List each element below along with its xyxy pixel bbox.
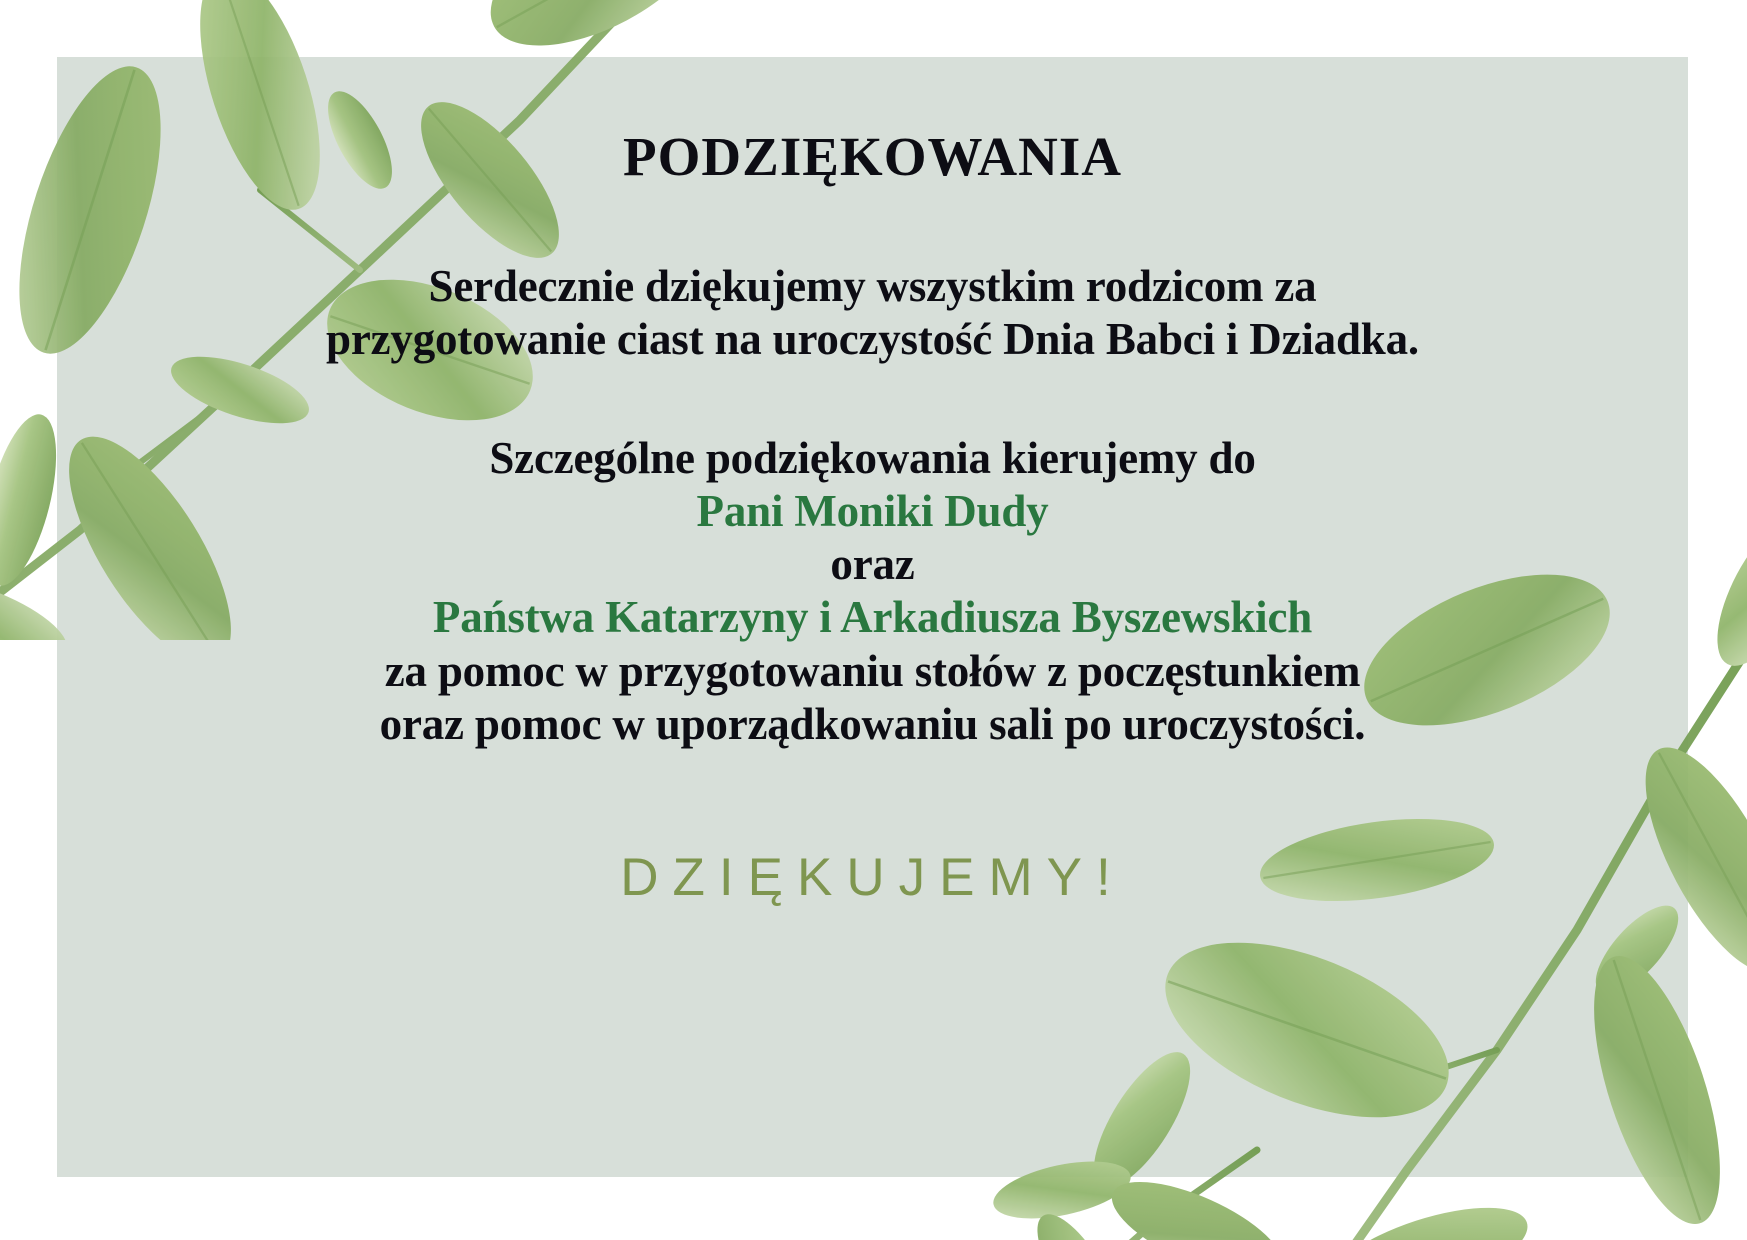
paragraph2-line-1: Szczególne podziękowania kierujemy do (57, 432, 1688, 485)
paragraph2-conjunction: oraz (57, 538, 1688, 591)
paragraph2-line-5: za pomoc w przygotowaniu stołów z poczęs… (57, 645, 1688, 698)
honoree-name-moniki-dudy: Pani Moniki Dudy (57, 485, 1688, 538)
page-title: PODZIĘKOWANIA (57, 57, 1688, 188)
paragraph1-line-1: Serdecznie dziękujemy wszystkim rodzicom… (57, 260, 1688, 313)
thank-you-card: PODZIĘKOWANIA Serdecznie dziękujemy wszy… (0, 0, 1747, 1240)
paragraph1-line-2: przygotowanie ciast na uroczystość Dnia … (57, 313, 1688, 366)
honoree-name-byszewscy: Państwa Katarzyny i Arkadiusza Byszewski… (57, 591, 1688, 644)
paragraph-special-thanks: Szczególne podziękowania kierujemy do Pa… (57, 366, 1688, 751)
card-content: PODZIĘKOWANIA Serdecznie dziękujemy wszy… (57, 57, 1688, 1177)
closing-thank-you: DZIĘKUJEMY! (57, 751, 1688, 908)
paragraph-thanks-parents: Serdecznie dziękujemy wszystkim rodzicom… (57, 188, 1688, 366)
paragraph2-line-6: oraz pomoc w uporządkowaniu sali po uroc… (57, 698, 1688, 751)
